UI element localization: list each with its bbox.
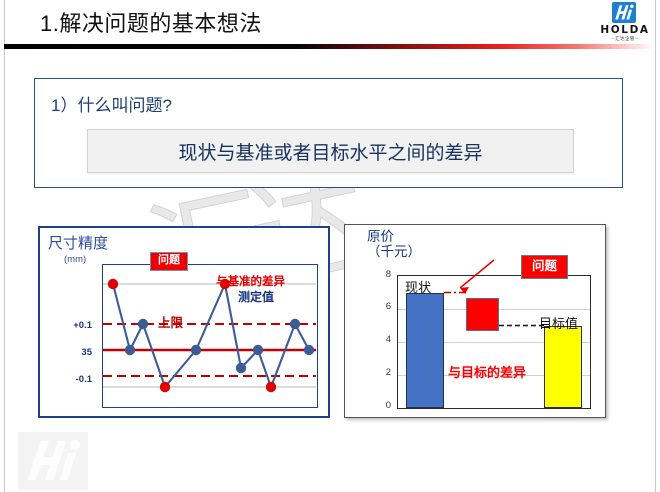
right-chart-ytick-4: 4 — [375, 334, 391, 345]
label-current-state: 现状 — [405, 277, 431, 296]
right-chart-ytick-6: 6 — [375, 301, 391, 312]
logo-subtext: —汇达企管— — [595, 36, 655, 42]
cost-comparison-chart: 原价 （千元） 8 6 4 2 0 — [344, 224, 606, 418]
logo-dash-right: — — [635, 36, 640, 41]
right-chart-ytick-8: 8 — [375, 269, 391, 280]
right-chart-title: 原价 （千元） — [367, 229, 421, 259]
page-edge-left — [4, 0, 5, 492]
label-target-value: 目标值 — [539, 313, 578, 332]
right-chart-title-line2: （千元） — [367, 244, 421, 259]
left-chart-problem-badge: 问题 — [150, 252, 188, 271]
left-chart-ytick-lower: -0.1 — [52, 374, 92, 385]
page-title: 1.解决问题的基本想法 — [40, 6, 262, 38]
question-answer: 现状与基准或者目标水平之间的差异 — [87, 129, 574, 173]
logo-subtext-cn: 汇达企管 — [615, 36, 635, 41]
question-panel: 1）什么叫问题? 现状与基准或者目标水平之间的差异 — [34, 78, 623, 188]
header-divider — [4, 44, 655, 49]
right-chart-ytick-0: 0 — [375, 400, 391, 411]
left-chart-upper-limit-label: 上限 — [158, 312, 183, 331]
dimension-accuracy-chart: 尺寸精度 (mm) +0.1 35 -0.1 — [38, 226, 330, 418]
left-chart-title: 尺寸精度 — [48, 232, 108, 253]
left-chart-ytick-upper: +0.1 — [52, 320, 92, 331]
right-chart-title-line1: 原价 — [367, 229, 394, 244]
slide-header: 1.解决问题的基本想法 — [0, 0, 660, 48]
right-chart-ytick-2: 2 — [375, 367, 391, 378]
left-chart-unit: (mm) — [64, 254, 86, 265]
page-edge-right — [655, 0, 656, 492]
left-chart-plot-area — [102, 264, 318, 408]
holda-hi-mark-icon — [612, 2, 636, 23]
left-chart-baseline-diff-label: 与基准的差异 — [216, 273, 285, 289]
left-chart-measured-label: 测定值 — [238, 288, 274, 305]
question-prompt: 1）什么叫问题? — [51, 91, 172, 116]
left-chart-ytick-center: 35 — [52, 347, 92, 358]
brand-logo: HOLDA —汇达企管— — [595, 2, 655, 44]
right-chart-problem-badge: 问题 — [521, 255, 568, 279]
slide-canvas: 1.解决问题的基本想法 HOLDA —汇达企管— 汇达 — [0, 0, 660, 492]
holda-hi-watermark-icon — [18, 432, 88, 490]
logo-wordmark: HOLDA — [595, 24, 655, 36]
label-target-difference: 与目标的差异 — [448, 362, 526, 381]
